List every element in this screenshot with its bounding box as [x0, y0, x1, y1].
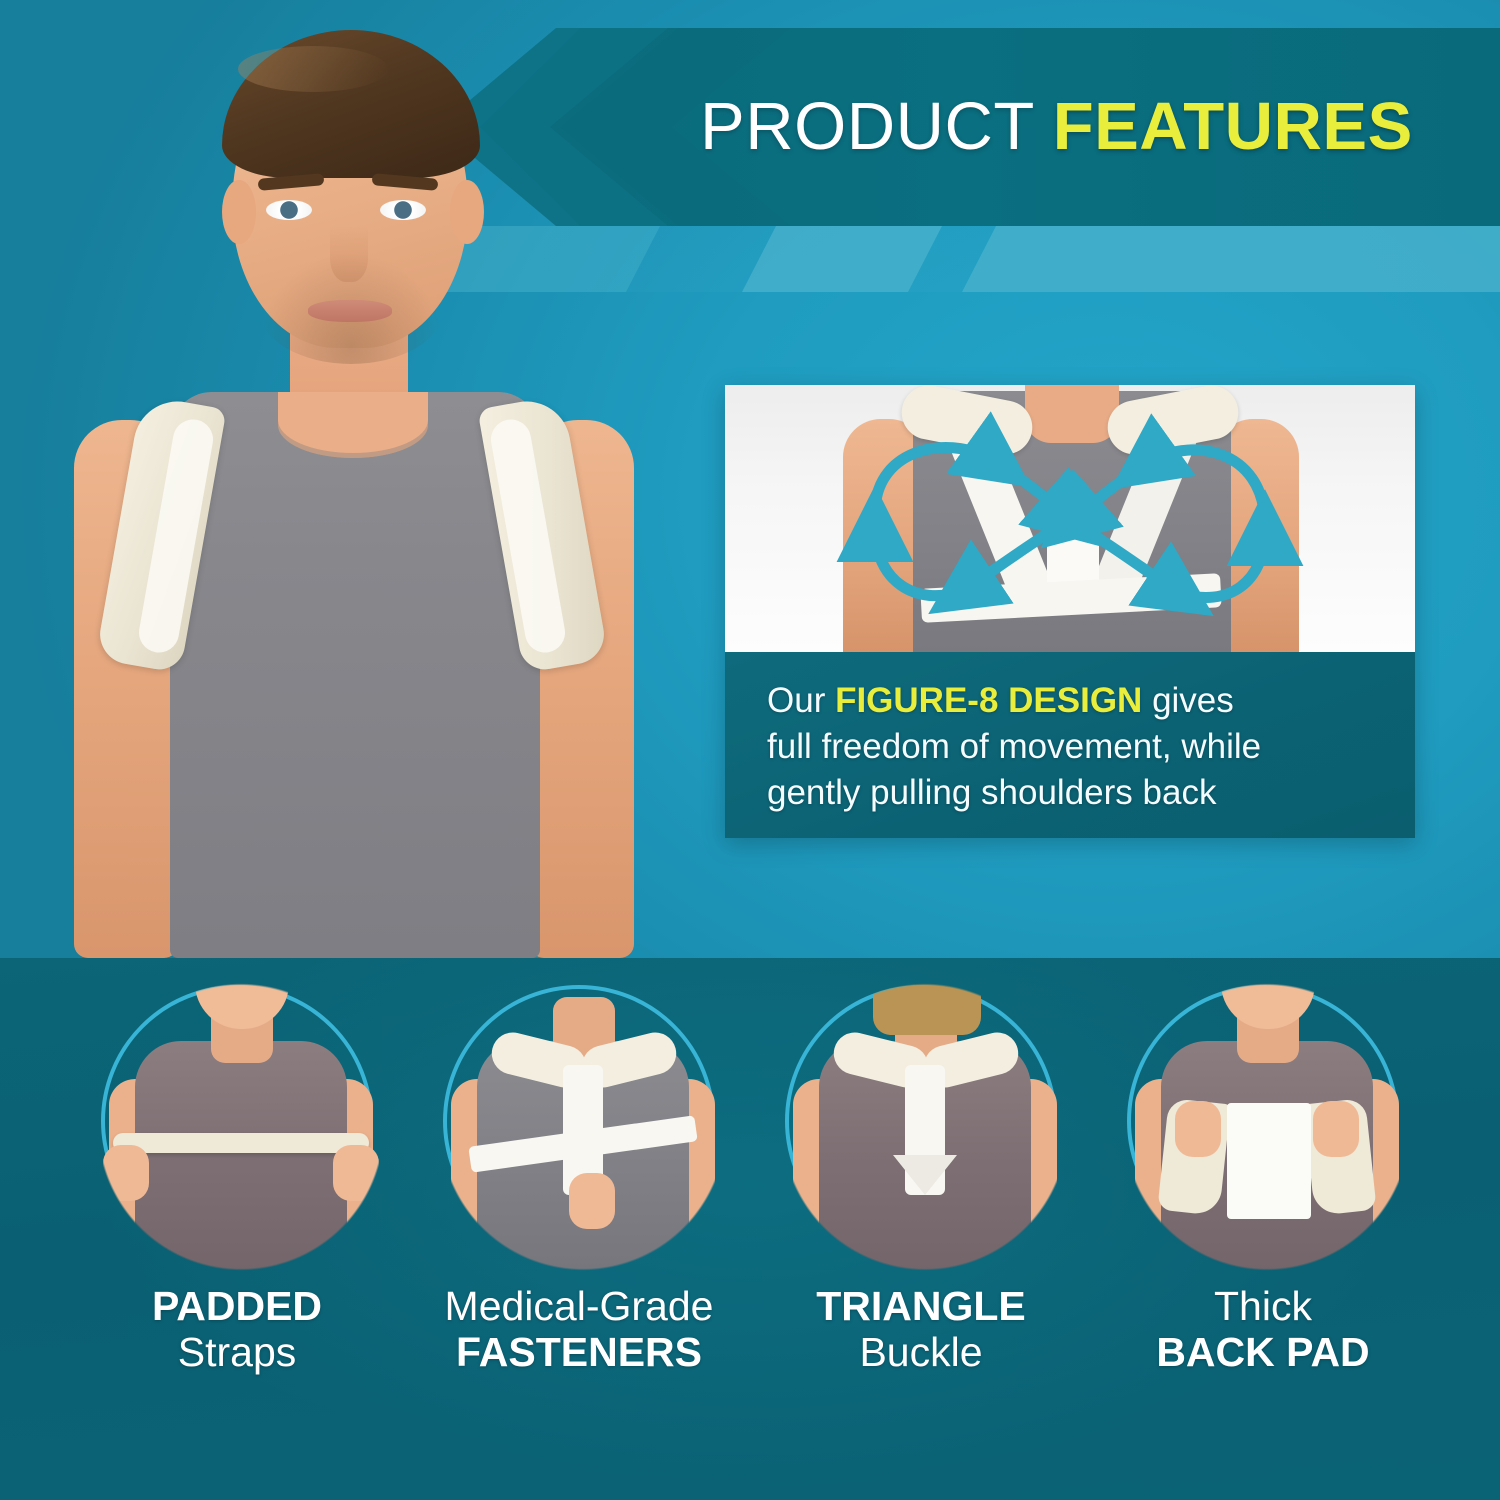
fi-torso: [135, 1041, 347, 1271]
feature-label-line1: Medical-Grade: [445, 1283, 714, 1329]
caption-line1-post: gives: [1142, 681, 1233, 720]
feature-item-fasteners: Medical-Grade FASTENERS: [419, 985, 739, 1376]
caption-prefix: Our: [767, 681, 835, 720]
model-ear-left: [222, 180, 256, 244]
figure-8-arrow-overlay: [725, 385, 1415, 652]
title-word-product: PRODUCT: [700, 89, 1034, 164]
feature-label-back-pad: Thick BACK PAD: [1156, 1283, 1369, 1376]
feature-label-line1: TRIANGLE: [816, 1283, 1026, 1329]
feature-item-triangle-buckle: TRIANGLE Buckle: [761, 985, 1081, 1376]
caption-line3: gently pulling shoulders back: [767, 773, 1216, 812]
feature-image-triangle-buckle: [775, 983, 1075, 1271]
caption-highlight: FIGURE-8 DESIGN: [835, 681, 1142, 720]
feature-label-triangle-buckle: TRIANGLE Buckle: [816, 1283, 1026, 1376]
feature-circle-triangle-buckle: [785, 985, 1057, 1257]
model-shirt-collar: [278, 392, 428, 458]
feature-image-padded-straps: [91, 983, 391, 1271]
accent-ribbon-2: [742, 226, 942, 292]
figure8-caption-text: Our FIGURE-8 DESIGN gives full freedom o…: [767, 678, 1387, 816]
feature-circle-padded-straps: [101, 985, 373, 1257]
model-lips: [308, 300, 392, 322]
fi-chin: [195, 983, 289, 1029]
feature-image-fasteners: [433, 983, 733, 1271]
feature-label-line2: Straps: [152, 1329, 322, 1375]
figure8-photo: [725, 385, 1415, 652]
feature-item-padded-straps: PADDED Straps: [77, 985, 397, 1376]
figure8-caption-box: Our FIGURE-8 DESIGN gives full freedom o…: [725, 652, 1415, 838]
feature-label-fasteners: Medical-Grade FASTENERS: [445, 1283, 714, 1376]
model-eye-left: [266, 200, 312, 220]
fi-padded-strap: [113, 1133, 369, 1153]
fi-back-pad: [1227, 1103, 1311, 1219]
fi-chin: [1221, 983, 1315, 1029]
fi-hair-back: [873, 983, 981, 1035]
feature-label-line1: PADDED: [152, 1283, 322, 1329]
feature-label-line2: BACK PAD: [1156, 1329, 1369, 1375]
fi-hand-right: [1313, 1101, 1359, 1157]
feature-label-line2: FASTENERS: [445, 1329, 714, 1375]
fi-hand-left: [103, 1145, 149, 1201]
caption-line2: full freedom of movement, while: [767, 727, 1261, 766]
feature-label-padded-straps: PADDED Straps: [152, 1283, 322, 1376]
accent-ribbon-3: [962, 226, 1500, 292]
triangle-buckle-icon: [893, 1155, 957, 1195]
model-ear-right: [450, 180, 484, 244]
hero-model-photo: [0, 0, 700, 958]
figure8-card: Our FIGURE-8 DESIGN gives full freedom o…: [725, 385, 1415, 838]
feature-label-line2: Buckle: [816, 1329, 1026, 1375]
feature-list: PADDED Straps Medical-Grade: [0, 985, 1500, 1485]
model-eye-right: [380, 200, 426, 220]
model-torso: [170, 392, 540, 958]
feature-label-line1: Thick: [1156, 1283, 1369, 1329]
page-title: PRODUCT FEATURES: [700, 78, 1460, 176]
feature-image-back-pad: [1117, 983, 1417, 1271]
title-word-features: FEATURES: [1053, 89, 1413, 164]
feature-item-back-pad: Thick BACK PAD: [1103, 985, 1423, 1376]
feature-circle-back-pad: [1127, 985, 1399, 1257]
fi-hand-left: [1175, 1101, 1221, 1157]
fi-hand-adjusting: [569, 1173, 615, 1229]
fi-hand-right: [333, 1145, 379, 1201]
feature-circle-fasteners: [443, 985, 715, 1257]
infographic-page: PRODUCT FEATURES: [0, 0, 1500, 1500]
model-hair: [222, 30, 480, 178]
